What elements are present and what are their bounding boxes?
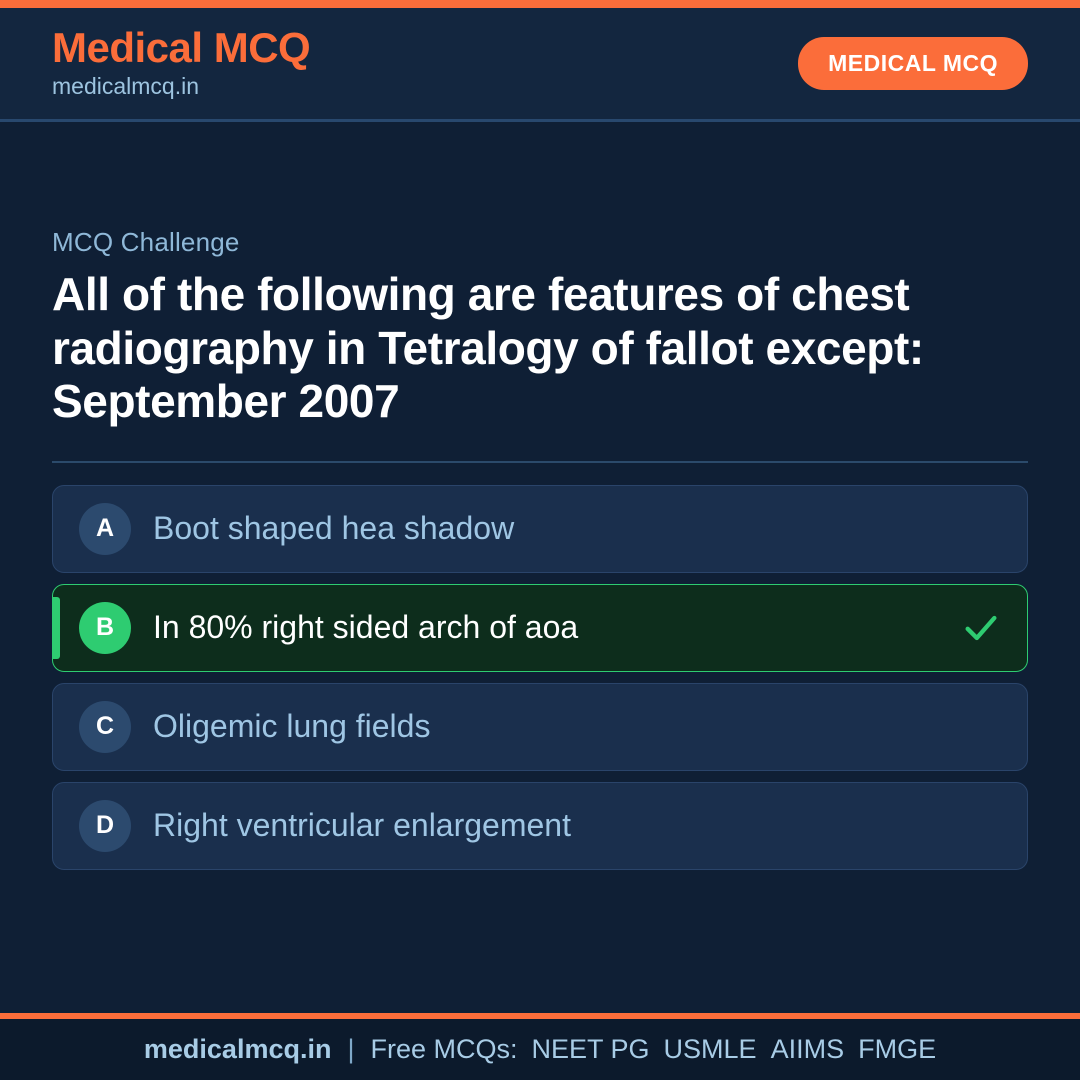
- option-a[interactable]: A Boot shaped hea shadow: [52, 485, 1028, 573]
- footer-exam-neetpg[interactable]: NEET PG: [518, 1034, 650, 1065]
- top-accent-bar: [0, 0, 1080, 8]
- option-d[interactable]: D Right ventricular enlargement: [52, 782, 1028, 870]
- footer-separator: |: [331, 1034, 370, 1065]
- brand-badge[interactable]: MEDICAL MCQ: [798, 37, 1028, 90]
- mcq-card: Medical MCQ medicalmcq.in MEDICAL MCQ MC…: [0, 0, 1080, 1080]
- options-list: A Boot shaped hea shadow B In 80% right …: [52, 485, 1028, 870]
- header: Medical MCQ medicalmcq.in MEDICAL MCQ: [0, 8, 1080, 122]
- option-text-b: In 80% right sided arch of aoa: [153, 608, 578, 646]
- brand-title: Medical MCQ: [52, 26, 310, 70]
- footer-exam-fmge[interactable]: FMGE: [844, 1034, 936, 1065]
- eyebrow-label: MCQ Challenge: [52, 227, 1028, 258]
- option-letter-c: C: [79, 701, 131, 753]
- brand: Medical MCQ medicalmcq.in: [52, 26, 310, 102]
- option-text-a: Boot shaped hea shadow: [153, 509, 514, 547]
- option-letter-b: B: [79, 602, 131, 654]
- footer-exam-usmle[interactable]: USMLE: [650, 1034, 757, 1065]
- footer-exam-aiims[interactable]: AIIMS: [757, 1034, 845, 1065]
- main-content: MCQ Challenge All of the following are f…: [0, 122, 1080, 1013]
- question-text: All of the following are features of che…: [52, 268, 1028, 428]
- option-text-d: Right ventricular enlargement: [153, 806, 571, 844]
- option-letter-d: D: [79, 800, 131, 852]
- check-icon: [961, 608, 1001, 648]
- option-letter-a: A: [79, 503, 131, 555]
- brand-subtitle: medicalmcq.in: [52, 72, 310, 102]
- footer-label: Free MCQs:: [370, 1034, 517, 1065]
- option-b[interactable]: B In 80% right sided arch of aoa: [52, 584, 1028, 672]
- option-c[interactable]: C Oligemic lung fields: [52, 683, 1028, 771]
- correct-accent-bar: [53, 597, 60, 659]
- question-divider: [52, 461, 1028, 463]
- option-text-c: Oligemic lung fields: [153, 707, 430, 745]
- footer-site[interactable]: medicalmcq.in: [144, 1034, 332, 1065]
- footer: medicalmcq.in | Free MCQs: NEET PG USMLE…: [0, 1019, 1080, 1080]
